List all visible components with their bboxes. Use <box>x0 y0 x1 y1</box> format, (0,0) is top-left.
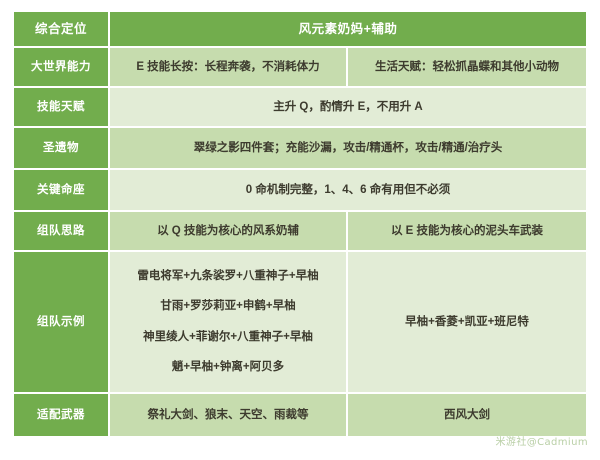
table-row: 适配武器 祭礼大剑、狼末、天空、雨裁等 西风大剑 <box>14 394 586 436</box>
team-example-line: 甘雨+罗莎莉亚+申鹤+早柚 <box>160 298 295 315</box>
build-table-page: 综合定位 风元素奶妈+辅助 大世界能力 E 技能长按：长程奔袭，不消耗体力 生活… <box>0 0 600 460</box>
character-build-table: 综合定位 风元素奶妈+辅助 大世界能力 E 技能长按：长程奔袭，不消耗体力 生活… <box>14 12 586 436</box>
talent-priority-value: 主升 Q，酌情升 E，不用升 A <box>110 88 586 128</box>
table-row: 大世界能力 E 技能长按：长程奔袭，不消耗体力 生活天赋：轻松抓晶蝶和其他小动物 <box>14 48 586 88</box>
table-row: 综合定位 风元素奶妈+辅助 <box>14 12 586 48</box>
row-header-artifacts: 圣遗物 <box>14 128 110 170</box>
team-example-line: 神里绫人+菲谢尔+八重神子+早柚 <box>143 329 313 346</box>
team-example-line: 雷电将军+九条裟罗+八重神子+早柚 <box>137 268 318 285</box>
team-examples-right: 早柚+香菱+凯亚+班尼特 <box>348 252 586 394</box>
team-concept-left: 以 Q 技能为核心的风系奶辅 <box>110 212 348 252</box>
constellations-value: 0 命机制完整，1、4、6 命有用但不必须 <box>110 170 586 212</box>
weapons-left: 祭礼大剑、狼末、天空、雨裁等 <box>110 394 348 436</box>
overworld-ability-right: 生活天赋：轻松抓晶蝶和其他小动物 <box>348 48 586 88</box>
row-header-talent-priority: 技能天赋 <box>14 88 110 128</box>
table-row: 技能天赋 主升 Q，酌情升 E，不用升 A <box>14 88 586 128</box>
team-examples-left: 雷电将军+九条裟罗+八重神子+早柚 甘雨+罗莎莉亚+申鹤+早柚 神里绫人+菲谢尔… <box>110 252 348 394</box>
overworld-ability-left: E 技能长按：长程奔袭，不消耗体力 <box>110 48 348 88</box>
row-header-team-concept: 组队思路 <box>14 212 110 252</box>
row-header-team-examples: 组队示例 <box>14 252 110 394</box>
artifacts-value: 翠绿之影四件套；充能沙漏，攻击/精通杯，攻击/精通/治疗头 <box>110 128 586 170</box>
row-header-weapons: 适配武器 <box>14 394 110 436</box>
table-row: 组队示例 雷电将军+九条裟罗+八重神子+早柚 甘雨+罗莎莉亚+申鹤+早柚 神里绫… <box>14 252 586 394</box>
overall-role-value: 风元素奶妈+辅助 <box>110 12 586 48</box>
table-row: 关键命座 0 命机制完整，1、4、6 命有用但不必须 <box>14 170 586 212</box>
table-row: 圣遗物 翠绿之影四件套；充能沙漏，攻击/精通杯，攻击/精通/治疗头 <box>14 128 586 170</box>
table-row: 组队思路 以 Q 技能为核心的风系奶辅 以 E 技能为核心的泥头车武装 <box>14 212 586 252</box>
row-header-constellations: 关键命座 <box>14 170 110 212</box>
team-example-line: 魈+早柚+钟离+阿贝多 <box>172 359 284 376</box>
team-concept-right: 以 E 技能为核心的泥头车武装 <box>348 212 586 252</box>
team-example-list: 雷电将军+九条裟罗+八重神子+早柚 甘雨+罗莎莉亚+申鹤+早柚 神里绫人+菲谢尔… <box>116 262 340 382</box>
row-header-overall-role: 综合定位 <box>14 12 110 48</box>
row-header-overworld-ability: 大世界能力 <box>14 48 110 88</box>
weapons-right: 西风大剑 <box>348 394 586 436</box>
